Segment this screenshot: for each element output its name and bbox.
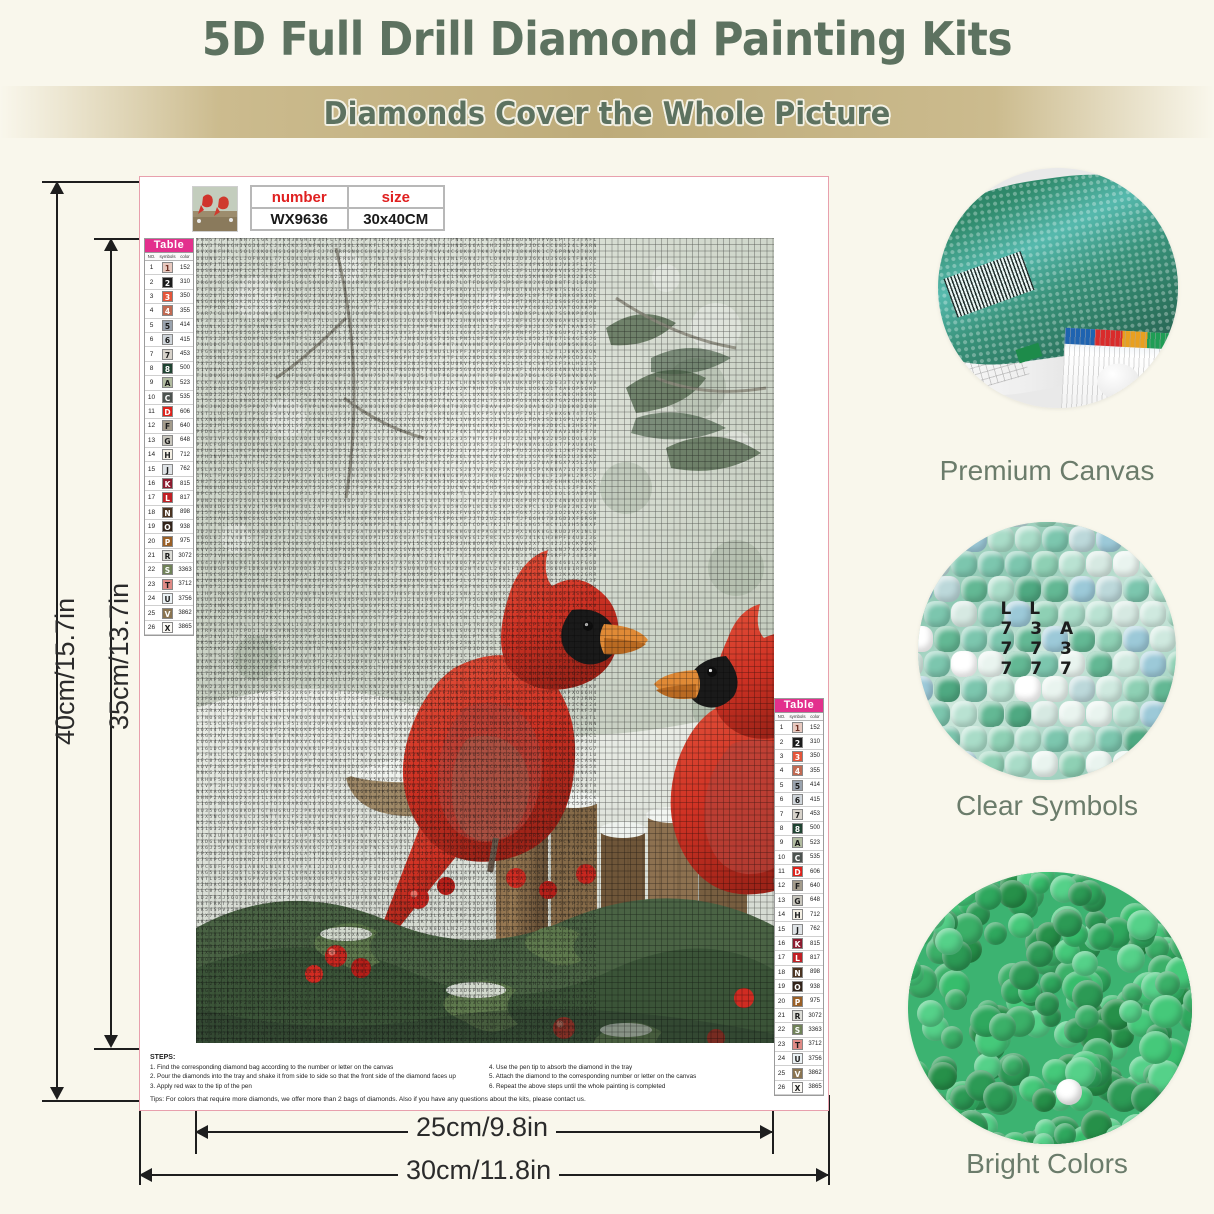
row-symbol: 8	[162, 363, 173, 374]
col-no: NO.	[775, 713, 788, 720]
diamond-bead	[911, 1121, 937, 1144]
premium-canvas-image	[938, 168, 1178, 408]
label-inner-width: 25cm/9.8in	[408, 1112, 556, 1143]
row-number: 17	[145, 494, 158, 501]
row-symbol: N	[792, 967, 803, 978]
row-color-code: 898	[177, 509, 193, 515]
color-table-row: 66415	[775, 793, 823, 807]
row-number: 2	[145, 279, 158, 286]
row-number: 9	[775, 839, 788, 846]
diamond-bead	[961, 576, 987, 602]
color-table-title: Table	[145, 239, 193, 253]
color-table-row: 12F640	[775, 879, 823, 893]
diamond-bead	[975, 883, 1002, 910]
row-color-code: 3072	[807, 1013, 823, 1019]
row-number: 17	[775, 954, 788, 961]
diamond-bead	[961, 626, 987, 652]
row-color-code: 3865	[177, 624, 193, 630]
page-subtitle: Diamonds Cover the Whole Picture	[42, 96, 1171, 132]
row-symbol: 8	[792, 823, 803, 834]
row-symbol: R	[162, 550, 173, 561]
color-table-row: 11D606	[775, 865, 823, 879]
diamond-bead	[988, 576, 1014, 602]
color-table-row: 13G648	[775, 894, 823, 908]
diamond-bead	[1026, 941, 1052, 967]
color-table-row: 25V3862	[145, 606, 193, 620]
color-table-row: 55414	[775, 779, 823, 793]
diamond-bead	[1005, 751, 1031, 777]
color-table-row: 21R3072	[775, 1009, 823, 1023]
feature-caption-bright-colors: Bright Colors	[880, 1148, 1214, 1180]
row-number: 15	[145, 466, 158, 473]
row-symbol: S	[792, 1024, 803, 1035]
row-color-code: 712	[807, 912, 823, 918]
diamond-bead	[924, 651, 950, 677]
row-color-code: 355	[177, 308, 193, 314]
diamond-bead	[1121, 1114, 1152, 1144]
diamond-bead	[934, 626, 960, 652]
spec-header-number: number	[251, 186, 348, 208]
row-color-code: 3363	[177, 567, 193, 573]
color-table-row: 19O938	[145, 520, 193, 534]
diamond-bead	[1032, 701, 1058, 727]
row-color-code: 415	[177, 337, 193, 343]
row-number: 9	[145, 379, 158, 386]
row-color-code: 815	[177, 481, 193, 487]
row-color-code: 938	[177, 524, 193, 530]
row-symbol: 6	[162, 334, 173, 345]
diamond-bead	[1072, 951, 1097, 976]
diamond-bead	[1040, 972, 1062, 994]
row-symbol: 7	[792, 809, 803, 820]
row-color-code: 500	[807, 825, 823, 831]
diamond-bead	[1069, 576, 1095, 602]
color-table-row: 9A523	[145, 376, 193, 390]
diamond-bead	[1096, 676, 1122, 702]
diamond-bead	[1086, 751, 1112, 777]
row-number: 7	[775, 811, 788, 818]
row-color-code: 817	[807, 955, 823, 961]
color-table-row: 14H712	[145, 448, 193, 462]
row-number: 4	[775, 767, 788, 774]
color-table-row: 55414	[145, 319, 193, 333]
product-sheet: number size WX9636 30x40CM Table NO. sym…	[139, 176, 829, 1111]
diamond-bead	[934, 526, 960, 552]
diamond-bead	[1117, 944, 1145, 972]
row-number: 2	[775, 739, 788, 746]
color-table-columns: NO. symbols color	[145, 253, 193, 261]
row-color-code: 152	[177, 265, 193, 271]
diamond-bead	[1140, 551, 1166, 577]
row-number: 21	[145, 552, 158, 559]
diamond-bead	[988, 676, 1014, 702]
color-table-row: 22S3363	[145, 563, 193, 577]
diamond-bead	[1157, 1116, 1179, 1138]
diamond-bead	[924, 551, 950, 577]
row-color-code: 355	[807, 768, 823, 774]
feature-caption-clear-symbols: Clear Symbols	[880, 790, 1214, 822]
color-table-row: 66415	[145, 333, 193, 347]
diamond-bead	[988, 526, 1014, 552]
row-color-code: 500	[177, 365, 193, 371]
diamond-bead	[924, 701, 950, 727]
row-number: 24	[145, 595, 158, 602]
row-symbol: G	[792, 895, 803, 906]
header: 5D Full Drill Diamond Painting Kits Diam…	[0, 0, 1214, 152]
diamond-bead	[1113, 601, 1139, 627]
row-color-code: 606	[807, 869, 823, 875]
diamond-bead	[1096, 526, 1122, 552]
row-number: 18	[145, 509, 158, 516]
color-table-row: 13G648	[145, 434, 193, 448]
row-symbol: 4	[162, 305, 173, 316]
diamond-bead	[1167, 601, 1176, 627]
row-symbol: C	[162, 392, 173, 403]
diamond-bead	[918, 676, 933, 702]
diamond-bead	[1140, 651, 1166, 677]
label-outer-width: 30cm/11.8in	[398, 1155, 559, 1186]
row-symbol: O	[792, 981, 803, 992]
col-symbols: symbols	[788, 713, 807, 720]
col-no: NO.	[145, 253, 158, 260]
row-number: 11	[145, 408, 158, 415]
row-symbol: 5	[162, 320, 173, 331]
row-number: 1	[775, 724, 788, 731]
row-color-code: 640	[807, 883, 823, 889]
row-number: 8	[775, 825, 788, 832]
row-color-code: 762	[177, 466, 193, 472]
row-color-code: 762	[807, 926, 823, 932]
row-symbol: V	[162, 608, 173, 619]
diamond-bead	[1042, 576, 1068, 602]
symbol-row: 7 3 A	[1001, 619, 1115, 639]
row-color-code: 415	[807, 797, 823, 803]
color-table-row: 11152	[145, 261, 193, 275]
color-table-row: 23T3712	[775, 1038, 823, 1052]
row-symbol: P	[162, 536, 173, 547]
row-color-code: 648	[807, 897, 823, 903]
diamond-bead	[983, 1082, 1013, 1112]
diamond-bead	[1069, 676, 1095, 702]
diamond-bead	[922, 906, 945, 929]
row-number: 3	[775, 753, 788, 760]
diamond-bead	[1042, 676, 1068, 702]
row-number: 16	[775, 940, 788, 947]
row-number: 7	[145, 351, 158, 358]
row-color-code: 414	[807, 782, 823, 788]
row-symbol: 2	[162, 277, 173, 288]
diamond-bead	[1075, 1005, 1099, 1029]
diamond-bead	[1140, 601, 1166, 627]
step-item: 5. Attach the diamond to the correspondi…	[489, 1072, 818, 1081]
color-table-row: 10C535	[775, 851, 823, 865]
row-number: 5	[775, 782, 788, 789]
row-number: 26	[145, 624, 158, 631]
diamond-bead	[1069, 726, 1095, 752]
symbol-row: L L	[1001, 599, 1115, 619]
row-color-code: 640	[177, 423, 193, 429]
col-color: color	[177, 253, 193, 260]
row-symbol: K	[162, 478, 173, 489]
diamond-bead	[948, 877, 977, 906]
step-item: 1. Find the corresponding diamond bag ac…	[150, 1063, 479, 1072]
diamond-bead	[1096, 576, 1122, 602]
row-color-code: 535	[807, 854, 823, 860]
diamond-bead	[1123, 726, 1149, 752]
row-color-code: 975	[807, 998, 823, 1004]
color-table-row: 16K815	[775, 937, 823, 951]
diamond-bead	[961, 726, 987, 752]
row-color-code: 350	[807, 753, 823, 759]
row-number: 21	[775, 1012, 788, 1019]
row-symbol: 1	[162, 262, 173, 273]
diamond-bead	[941, 1026, 964, 1049]
color-table-row: 77453	[775, 807, 823, 821]
diamond-bead	[1123, 626, 1149, 652]
diamond-bead	[998, 880, 1026, 908]
step-item: 6. Repeat the above steps until the whol…	[489, 1082, 818, 1091]
diamond-bead	[1140, 701, 1166, 727]
diamond-bead	[918, 626, 933, 652]
row-number: 16	[145, 480, 158, 487]
diamond-bead	[918, 726, 933, 752]
diamond-bead	[1032, 751, 1058, 777]
spec-value-number: WX9636	[251, 208, 348, 230]
color-table-row: 20P975	[145, 534, 193, 548]
page-title: 5D Full Drill Diamond Painting Kits	[49, 12, 1166, 66]
row-color-code: 815	[807, 941, 823, 947]
row-number: 19	[145, 523, 158, 530]
row-symbol: G	[162, 435, 173, 446]
row-symbol: L	[162, 492, 173, 503]
color-table-row: 21R3072	[145, 549, 193, 563]
row-symbol: T	[792, 1039, 803, 1050]
diamond-bead	[1150, 726, 1176, 752]
color-table-row: 11D606	[145, 405, 193, 419]
row-number: 11	[775, 868, 788, 875]
color-table-row: 18N898	[775, 966, 823, 980]
row-number: 1	[145, 264, 158, 271]
diamond-bead	[945, 989, 966, 1010]
color-table-body: 1115222310333504435555414664157745388500…	[145, 261, 193, 635]
spec-table: number size WX9636 30x40CM	[250, 185, 445, 231]
row-color-code: 3712	[177, 581, 193, 587]
color-table-right: Table NO. symbols color 1115222310333504…	[774, 698, 824, 1096]
diamond-bead	[1113, 551, 1139, 577]
row-symbol: 6	[792, 794, 803, 805]
row-number: 10	[145, 394, 158, 401]
diamond-bead	[951, 651, 977, 677]
diamond-bead	[951, 751, 977, 777]
color-table-row: 17L817	[775, 951, 823, 965]
row-color-code: 535	[177, 394, 193, 400]
diamond-bead	[918, 601, 923, 627]
diamond-bead	[1005, 551, 1031, 577]
diamond-bead	[1123, 526, 1149, 552]
steps-block: STEPS: 1. Find the corresponding diamond…	[150, 1053, 818, 1104]
color-table-body: 1115222310333504435555414664157745388500…	[775, 721, 823, 1095]
row-symbol: P	[792, 996, 803, 1007]
diamond-bead	[989, 1013, 1016, 1040]
row-color-code: 453	[807, 811, 823, 817]
diamond-bead	[1059, 551, 1085, 577]
clear-symbols-image: L L 7 3 A 7 7 3 7 7 7	[918, 522, 1176, 780]
diamond-bead	[961, 526, 987, 552]
row-color-code: 310	[177, 279, 193, 285]
color-table-row: 17L817	[145, 491, 193, 505]
diamond-bead	[1015, 526, 1041, 552]
diamond-bead	[1182, 1074, 1192, 1099]
row-color-code: 606	[177, 409, 193, 415]
row-number: 6	[145, 336, 158, 343]
color-table-left: Table NO. symbols color 1115222310333504…	[144, 238, 194, 636]
row-number: 13	[775, 897, 788, 904]
color-table-row: 15J762	[145, 462, 193, 476]
color-table-row: 77453	[145, 347, 193, 361]
label-outer-height: 40cm/15.7in	[50, 598, 81, 745]
diamond-bead	[1069, 526, 1095, 552]
spec-header-size: size	[348, 186, 445, 208]
diamond-bead	[1127, 910, 1158, 941]
diamond-bead	[1032, 551, 1058, 577]
row-color-code: 310	[807, 739, 823, 745]
diamond-bead	[918, 651, 923, 677]
diamond-bead	[934, 726, 960, 752]
row-color-code: 3712	[807, 1041, 823, 1047]
row-symbol: L	[792, 952, 803, 963]
steps-title: STEPS:	[150, 1053, 818, 1062]
row-number: 20	[775, 998, 788, 1005]
symbol-row: 7 7 3	[1001, 639, 1115, 659]
row-color-code: 350	[177, 293, 193, 299]
color-table-row: 15J762	[775, 922, 823, 936]
canvas-artwork: FH8G77PKGFNH75CGKT3VV838GH1O3OFLCAU7C5PP…	[196, 238, 774, 1043]
color-table-row: 18N898	[145, 506, 193, 520]
color-table-row: 10C535	[145, 391, 193, 405]
white-diamond-bead	[1056, 1079, 1082, 1105]
diamond-bead	[928, 1062, 956, 1090]
diamond-bead	[1015, 726, 1041, 752]
row-symbol: A	[162, 377, 173, 388]
row-symbol: U	[162, 593, 173, 604]
color-table-row: 11152	[775, 721, 823, 735]
row-symbol: T	[162, 579, 173, 590]
color-table-row: 22310	[775, 735, 823, 749]
row-color-code: 3072	[177, 553, 193, 559]
diamond-bead	[951, 701, 977, 727]
bright-colors-image	[908, 872, 1192, 1144]
row-number: 23	[145, 581, 158, 588]
feature-caption-premium-canvas: Premium Canvas	[880, 455, 1214, 487]
row-number: 15	[775, 926, 788, 933]
row-color-code: 3756	[177, 596, 193, 602]
color-table-row: 33350	[145, 290, 193, 304]
row-number: 14	[775, 911, 788, 918]
row-color-code: 817	[177, 495, 193, 501]
row-symbol: D	[162, 406, 173, 417]
row-symbol: J	[162, 464, 173, 475]
diamond-bead	[1059, 751, 1085, 777]
color-table-row: 44355	[145, 304, 193, 318]
col-symbols: symbols	[158, 253, 177, 260]
diamond-bead	[961, 676, 987, 702]
row-number: 8	[145, 365, 158, 372]
diamond-bead	[1113, 751, 1139, 777]
diamond-bead	[1042, 726, 1068, 752]
steps-right-column: 4. Use the pen tip to absorb the diamond…	[489, 1063, 818, 1091]
diamond-bead	[978, 701, 1004, 727]
row-color-code: 975	[177, 538, 193, 544]
diamond-bead	[1096, 726, 1122, 752]
diamond-bead	[918, 751, 923, 777]
row-number: 12	[145, 422, 158, 429]
diamond-bead	[1015, 576, 1041, 602]
row-number: 20	[145, 538, 158, 545]
row-symbol: 2	[792, 737, 803, 748]
color-table-row: 22S3363	[775, 1023, 823, 1037]
color-table-row: 22310	[145, 275, 193, 289]
steps-tips: Tips: For colors that require more diamo…	[150, 1095, 818, 1104]
diamond-bead	[951, 551, 977, 577]
row-symbol: D	[792, 866, 803, 877]
step-item: 4. Use the pen tip to absorb the diamond…	[489, 1063, 818, 1072]
diamond-bead	[1123, 676, 1149, 702]
row-symbol: S	[162, 564, 173, 575]
diamond-bead	[1119, 1000, 1142, 1023]
diamond-bead	[1123, 576, 1149, 602]
color-table-row: 14H712	[775, 908, 823, 922]
row-number: 19	[775, 983, 788, 990]
color-table-row: 26X3865	[145, 621, 193, 635]
diamond-bead	[908, 1091, 919, 1112]
row-symbol: R	[792, 1010, 803, 1021]
color-table-row: 88500	[145, 362, 193, 376]
row-number: 25	[145, 610, 158, 617]
row-number: 5	[145, 322, 158, 329]
row-number: 18	[775, 969, 788, 976]
diamond-bead	[918, 701, 923, 727]
diamond-bead	[1086, 551, 1112, 577]
green-diamond-beads	[908, 872, 1192, 1144]
row-color-code: 712	[177, 452, 193, 458]
printed-symbols: L L 7 3 A 7 7 3 7 7 7	[1001, 599, 1115, 679]
diamond-bead	[1113, 701, 1139, 727]
diamond-bead	[918, 576, 933, 602]
color-table-row: 16K815	[145, 477, 193, 491]
diamond-bead	[1054, 1123, 1076, 1144]
infographic-page: 5D Full Drill Diamond Painting Kits Diam…	[0, 0, 1214, 1214]
row-color-code: 523	[807, 840, 823, 846]
row-color-code: 648	[177, 437, 193, 443]
steps-left-column: 1. Find the corresponding diamond bag ac…	[150, 1063, 479, 1091]
diamond-bead	[918, 551, 923, 577]
step-item: 2. Pour the diamonds into the tray and s…	[150, 1072, 479, 1081]
diamond-bead	[1167, 651, 1176, 677]
diamond-bead	[1042, 526, 1068, 552]
diamond-bead	[1053, 909, 1081, 937]
diamond-grid-lines	[196, 238, 774, 1043]
diamond-bead	[1015, 676, 1041, 702]
row-color-code: 898	[807, 969, 823, 975]
diamond-bead	[935, 928, 962, 955]
diamond-bead	[1059, 701, 1085, 727]
diamond-bead	[978, 751, 1004, 777]
symbol-row: 7 7 7	[1001, 659, 1115, 679]
diamond-bead	[1029, 873, 1050, 894]
diamond-bead	[1086, 701, 1112, 727]
diamond-bead	[1150, 576, 1176, 602]
diamond-bead	[1150, 676, 1176, 702]
